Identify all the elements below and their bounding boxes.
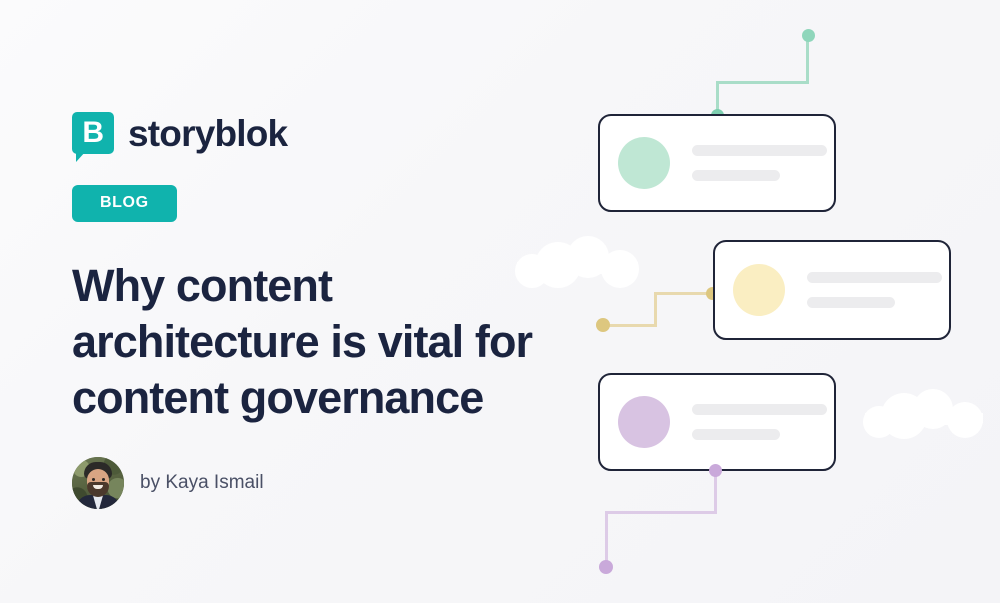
connector-dot-purple-start xyxy=(709,464,722,477)
connector-dot-green-end xyxy=(802,29,815,42)
content-card-purple[interactable] xyxy=(598,373,836,471)
author-name: by Kaya Ismail xyxy=(140,472,264,494)
content-card-green[interactable] xyxy=(598,114,836,212)
author-byline: by Kaya Ismail xyxy=(72,457,592,509)
page-title: Why content architecture is vital for co… xyxy=(72,258,582,425)
card-placeholder-lines xyxy=(692,145,827,181)
storyblok-wordmark: storyblok xyxy=(128,115,287,152)
storyblok-brand-lockup[interactable]: B storyblok xyxy=(72,108,592,158)
content-card-yellow[interactable] xyxy=(713,240,951,340)
cloud-icon-right xyxy=(863,389,985,425)
card-avatar-circle-green xyxy=(618,137,670,189)
category-badge-blog[interactable]: BLOG xyxy=(72,185,177,222)
card-avatar-circle-purple xyxy=(618,396,670,448)
connector-dot-yellow-start xyxy=(596,318,610,332)
connector-dot-purple-end xyxy=(599,560,613,574)
card-placeholder-lines xyxy=(807,272,942,308)
storyblok-logo-icon: B xyxy=(72,112,114,154)
card-avatar-circle-yellow xyxy=(733,264,785,316)
storyblok-logo-letter: B xyxy=(72,112,114,154)
card-placeholder-lines xyxy=(692,404,827,440)
avatar xyxy=(72,457,124,509)
blog-hero-banner: B storyblok BLOG Why content architectur… xyxy=(0,0,1000,603)
hero-content: B storyblok BLOG Why content architectur… xyxy=(72,108,592,509)
